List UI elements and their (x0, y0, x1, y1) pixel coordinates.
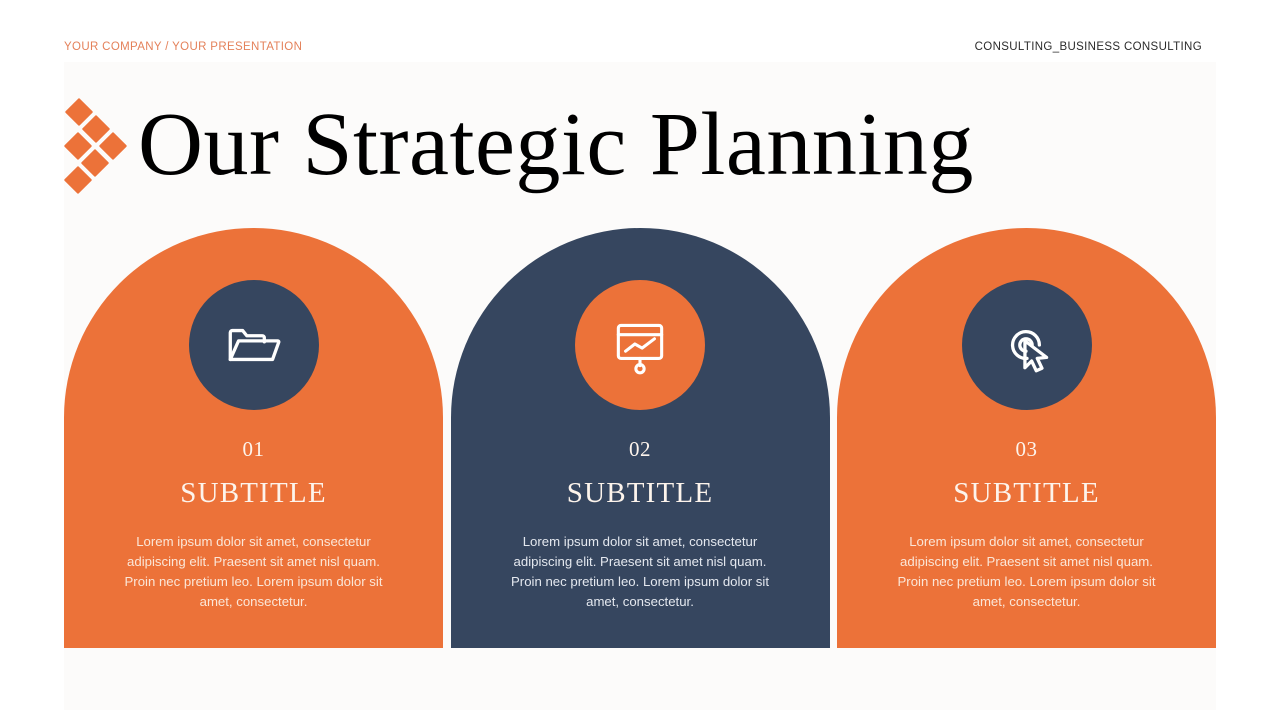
presentation-chart-icon (607, 312, 673, 378)
folder-icon (221, 312, 287, 378)
card-01-subtitle: SUBTITLE (180, 479, 327, 508)
header-category-label: CONSULTING_BUSINESS CONSULTING (975, 36, 1202, 58)
click-cursor-icon (994, 312, 1060, 378)
card-01-number: 01 (243, 439, 265, 460)
page-title: Our Strategic Planning (138, 100, 974, 190)
card-01-icon-circle (189, 280, 319, 410)
card-02-number: 02 (629, 439, 651, 460)
card-01[interactable]: 01 SUBTITLE Lorem ipsum dolor sit amet, … (64, 228, 443, 648)
title-row: Our Strategic Planning (64, 90, 974, 200)
card-02[interactable]: 02 SUBTITLE Lorem ipsum dolor sit amet, … (451, 228, 830, 648)
cards-container: 01 SUBTITLE Lorem ipsum dolor sit amet, … (64, 228, 1216, 648)
card-03[interactable]: 03 SUBTITLE Lorem ipsum dolor sit amet, … (837, 228, 1216, 648)
diamond-cluster-icon (64, 100, 124, 190)
card-02-subtitle: SUBTITLE (567, 479, 714, 508)
slide-header: YOUR COMPANY / YOUR PRESENTATION CONSULT… (0, 36, 1280, 58)
card-03-body: Lorem ipsum dolor sit amet, consectetur … (891, 532, 1163, 612)
card-03-icon-circle (962, 280, 1092, 410)
card-01-body: Lorem ipsum dolor sit amet, consectetur … (118, 532, 390, 612)
card-02-body: Lorem ipsum dolor sit amet, consectetur … (504, 532, 776, 612)
card-03-subtitle: SUBTITLE (953, 479, 1100, 508)
card-02-icon-circle (575, 280, 705, 410)
card-03-number: 03 (1016, 439, 1038, 460)
header-company-label: YOUR COMPANY / YOUR PRESENTATION (64, 36, 302, 58)
